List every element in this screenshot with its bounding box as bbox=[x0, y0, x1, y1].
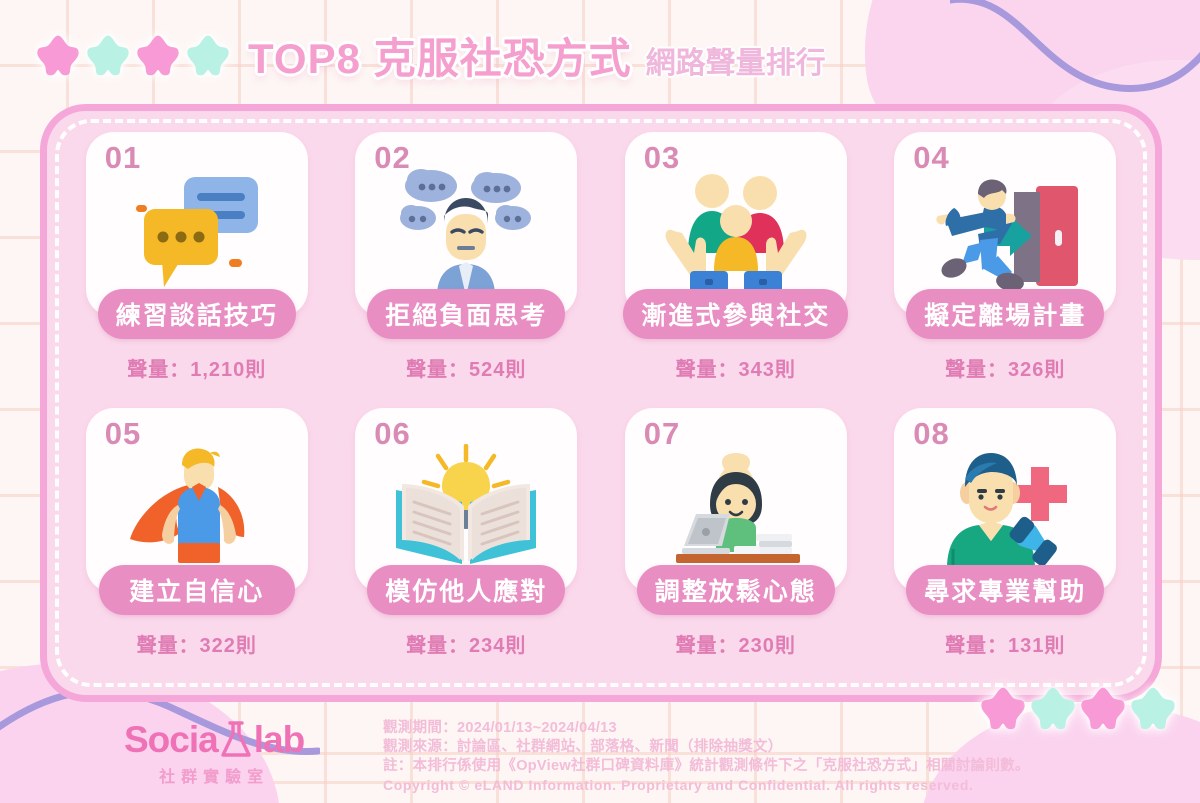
flask-icon bbox=[219, 721, 253, 759]
rank-label[interactable]: 漸進式參與社交 bbox=[623, 289, 848, 339]
note-source: 觀測來源：討論區、社群網站、部落格、新聞（排除抽獎文） bbox=[383, 738, 1030, 757]
header-stars bbox=[36, 33, 230, 77]
rank-count: 聲量：322則 bbox=[137, 629, 257, 658]
rank-label[interactable]: 練習談話技巧 bbox=[98, 289, 296, 339]
brand-logo[interactable]: Socia lab 社群實驗室 bbox=[124, 719, 304, 787]
rank-count: 聲量：343則 bbox=[676, 353, 796, 382]
rank-cell[interactable]: 01 練習談話技巧 聲量： bbox=[62, 132, 332, 408]
rank-count: 聲量：326則 bbox=[945, 353, 1065, 382]
logo-wordmark: Socia lab bbox=[124, 719, 304, 761]
rank-count: 聲量：234則 bbox=[406, 629, 526, 658]
star-icon bbox=[136, 33, 180, 77]
rank-cell[interactable]: 07 bbox=[601, 408, 871, 684]
ranking-grid: 01 練習談話技巧 聲量： bbox=[40, 104, 1162, 702]
star-icon bbox=[186, 33, 230, 77]
page-subtitle: 網路聲量排行 bbox=[646, 38, 826, 82]
note-remark: 註：本排行係使用《OpView社群口碑資料庫》統計觀測條件下之「克服社恐方式」相… bbox=[383, 757, 1030, 776]
rank-count: 聲量：131則 bbox=[945, 629, 1065, 658]
page-header: TOP8 克服社恐方式 網路聲量排行 bbox=[0, 14, 1200, 96]
page-title: TOP8 克服社恐方式 bbox=[248, 25, 632, 86]
logo-text-lab: lab bbox=[254, 719, 304, 761]
rank-count: 聲量：1,210則 bbox=[127, 353, 266, 382]
rank-label[interactable]: 模仿他人應對 bbox=[367, 565, 565, 615]
rank-label[interactable]: 擬定離場計畫 bbox=[906, 289, 1104, 339]
rank-cell[interactable]: 02 bbox=[332, 132, 602, 408]
rank-label[interactable]: 建立自信心 bbox=[99, 565, 295, 615]
copyright-notice: Copyright © eLAND Information. Proprieta… bbox=[383, 776, 1030, 795]
star-icon bbox=[36, 33, 80, 77]
rank-count: 聲量：524則 bbox=[406, 353, 526, 382]
logo-text-social: Socia bbox=[124, 719, 218, 761]
rank-label[interactable]: 尋求專業幫助 bbox=[906, 565, 1104, 615]
footnotes: 觀測期間：2024/01/13~2024/04/13 觀測來源：討論區、社群網站… bbox=[383, 719, 1030, 795]
rank-cell[interactable]: 04 bbox=[871, 132, 1141, 408]
rank-cell[interactable]: 03 漸進式參與社交 聲量：343則 bbox=[601, 132, 871, 408]
star-icon bbox=[86, 33, 130, 77]
rank-cell[interactable]: 08 bbox=[871, 408, 1141, 684]
logo-subtitle: 社群實驗室 bbox=[124, 763, 304, 787]
rank-count: 聲量：230則 bbox=[676, 629, 796, 658]
rank-cell[interactable]: 05 建立自信心 聲量：322則 bbox=[62, 408, 332, 684]
rank-cell[interactable]: 06 bbox=[332, 408, 602, 684]
rank-label[interactable]: 調整放鬆心態 bbox=[637, 565, 835, 615]
note-period: 觀測期間：2024/01/13~2024/04/13 bbox=[383, 719, 1030, 738]
page-footer: Socia lab 社群實驗室 觀測期間：2024/01/13~2024/04/… bbox=[0, 703, 1200, 803]
rank-label[interactable]: 拒絕負面思考 bbox=[367, 289, 565, 339]
